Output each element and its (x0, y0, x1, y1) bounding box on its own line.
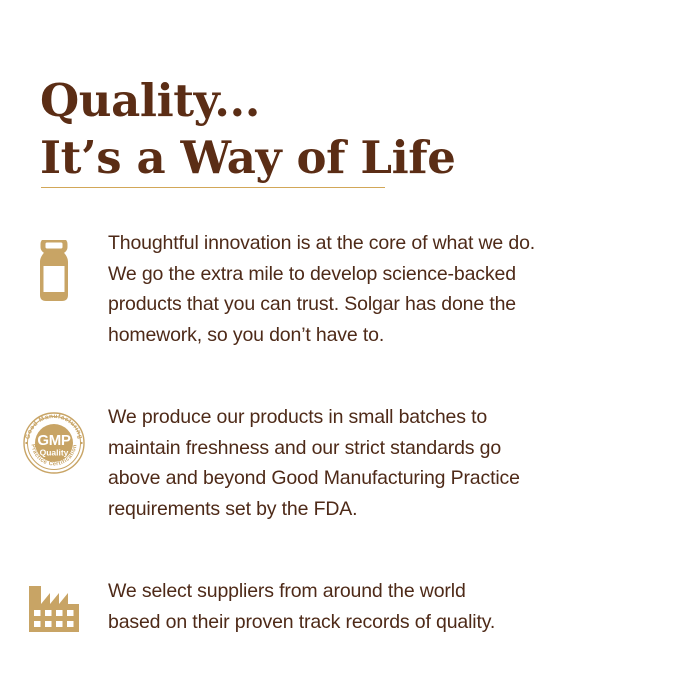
svg-text:Quality: Quality (40, 448, 69, 458)
svg-text:GMP: GMP (37, 432, 71, 449)
feature-icon-cell (0, 576, 108, 632)
feature-text: Thoughtful innovation is at the core of … (108, 228, 608, 350)
gmp-quality-seal-icon: Good Manufacturing Practice Certificatio… (21, 410, 87, 476)
feature-item-innovation: Thoughtful innovation is at the core of … (0, 228, 700, 350)
feature-icon-cell (0, 228, 108, 302)
supplement-bottle-icon (29, 240, 79, 302)
feature-list: Thoughtful innovation is at the core of … (0, 228, 700, 686)
feature-text: We produce our products in small batches… (108, 402, 608, 524)
page-title-line-2: It’s a Way of Life (40, 129, 600, 186)
quality-promo-page: Quality...It’s a Way of Life Thoughtful (0, 0, 700, 700)
page-title: Quality...It’s a Way of Life (40, 72, 600, 186)
feature-icon-cell: Good Manufacturing Practice Certificatio… (0, 402, 108, 476)
page-title-line-1: Quality... (40, 74, 260, 127)
feature-item-manufacturing: Good Manufacturing Practice Certificatio… (0, 402, 700, 524)
factory-icon (26, 584, 82, 632)
feature-text: We select suppliers from around the worl… (108, 576, 608, 637)
title-divider (41, 187, 385, 188)
feature-item-suppliers: We select suppliers from around the worl… (0, 576, 700, 686)
